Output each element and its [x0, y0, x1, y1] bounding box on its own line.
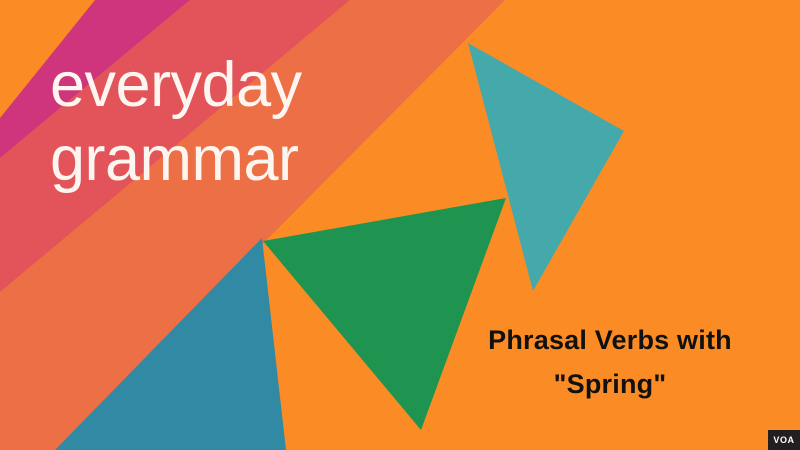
background-geometric-artwork — [0, 0, 800, 450]
voa-logo-label: VOA — [773, 436, 794, 445]
voa-logo: VOA — [768, 430, 800, 450]
video-title-card: everyday grammar Phrasal Verbs with "Spr… — [0, 0, 800, 450]
